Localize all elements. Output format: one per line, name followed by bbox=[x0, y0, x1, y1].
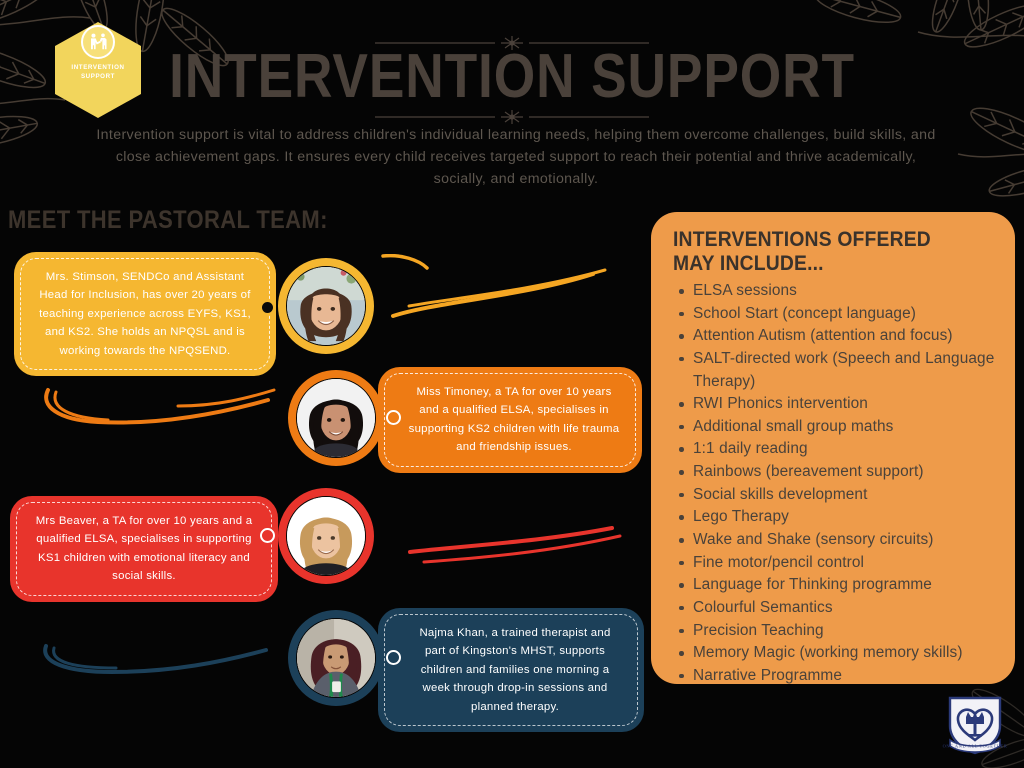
portrait-mrs-stimson bbox=[287, 267, 365, 345]
avatar-1 bbox=[278, 258, 374, 354]
team-member-row-2: Miss Timoney, a TA for over 10 years and… bbox=[0, 358, 650, 478]
list-item: SALT-directed work (Speech and Language … bbox=[673, 348, 995, 393]
list-item: Attention Autism (attention and focus) bbox=[673, 325, 995, 348]
list-item: ELSA sessions bbox=[673, 280, 995, 303]
portrait-mrs-beaver bbox=[287, 497, 365, 575]
team-member-row-4: Najma Khan, a trained therapist and part… bbox=[0, 604, 650, 724]
page-title: INTERVENTION SUPPORT bbox=[72, 44, 953, 109]
connector-dot-2 bbox=[386, 410, 401, 425]
list-item: Colourful Semantics bbox=[673, 597, 995, 620]
member-bio-text-2: Miss Timoney, a TA for over 10 years and… bbox=[408, 383, 620, 457]
list-item: RWI Phonics intervention bbox=[673, 393, 995, 416]
intro-paragraph: Intervention support is vital to address… bbox=[96, 124, 936, 190]
avatar-2 bbox=[288, 370, 384, 466]
interventions-title: INTERVENTIONS OFFERED MAY INCLUDE... bbox=[673, 228, 969, 276]
meet-team-heading: MEET THE PASTORAL TEAM: bbox=[8, 206, 328, 235]
list-item: Wake and Shake (sensory circuits) bbox=[673, 529, 995, 552]
team-member-row-3: Mrs Beaver, a TA for over 10 years and a… bbox=[0, 482, 640, 602]
swoosh-decoration-4 bbox=[32, 634, 272, 689]
avatar-3 bbox=[278, 488, 374, 584]
member-bio-bubble-4: Najma Khan, a trained therapist and part… bbox=[378, 608, 644, 732]
avatar-4 bbox=[288, 610, 384, 706]
interventions-panel: INTERVENTIONS OFFERED MAY INCLUDE... ELS… bbox=[651, 212, 1015, 684]
list-item: 1:1 daily reading bbox=[673, 438, 995, 461]
member-bio-bubble-1: Mrs. Stimson, SENDCo and Assistant Head … bbox=[14, 252, 276, 376]
member-bio-text-3: Mrs Beaver, a TA for over 10 years and a… bbox=[32, 512, 256, 586]
list-item: Social skills development bbox=[673, 484, 995, 507]
swoosh-decoration-3 bbox=[400, 520, 630, 575]
list-item: Rainbows (bereavement support) bbox=[673, 461, 995, 484]
member-bio-bubble-2: Miss Timoney, a TA for over 10 years and… bbox=[378, 367, 642, 473]
list-item: Fine motor/pencil control bbox=[673, 552, 995, 575]
list-item: Precision Teaching bbox=[673, 620, 995, 643]
svg-text:ONE AND ALL TOGETHER: ONE AND ALL TOGETHER bbox=[943, 744, 1008, 749]
list-item: Memory Magic (working memory skills) bbox=[673, 642, 995, 665]
member-bio-text-4: Najma Khan, a trained therapist and part… bbox=[408, 624, 622, 716]
swoosh-decoration-2 bbox=[28, 380, 278, 445]
connector-dot-1 bbox=[260, 300, 275, 315]
infographic-poster: INTERVENTION SUPPORT INTERVENTION SUPPOR… bbox=[0, 0, 1024, 768]
school-crest-logo: ONE AND ALL TOGETHER bbox=[942, 694, 1008, 756]
member-bio-text-1: Mrs. Stimson, SENDCo and Assistant Head … bbox=[36, 268, 254, 360]
list-item: Lego Therapy bbox=[673, 506, 995, 529]
team-member-row-1: Mrs. Stimson, SENDCo and Assistant Head … bbox=[0, 236, 640, 356]
list-item: Language for Thinking programme bbox=[673, 574, 995, 597]
connector-dot-4 bbox=[386, 650, 401, 665]
member-bio-bubble-3: Mrs Beaver, a TA for over 10 years and a… bbox=[10, 496, 278, 602]
interventions-list: ELSA sessions School Start (concept lang… bbox=[673, 280, 995, 688]
swoosh-decoration-1 bbox=[375, 254, 625, 329]
list-item: Narrative Programme bbox=[673, 665, 995, 688]
portrait-najma-khan bbox=[297, 619, 375, 697]
connector-dot-3 bbox=[260, 528, 275, 543]
portrait-miss-timoney bbox=[297, 379, 375, 457]
list-item: School Start (concept language) bbox=[673, 303, 995, 326]
list-item: Additional small group maths bbox=[673, 416, 995, 439]
